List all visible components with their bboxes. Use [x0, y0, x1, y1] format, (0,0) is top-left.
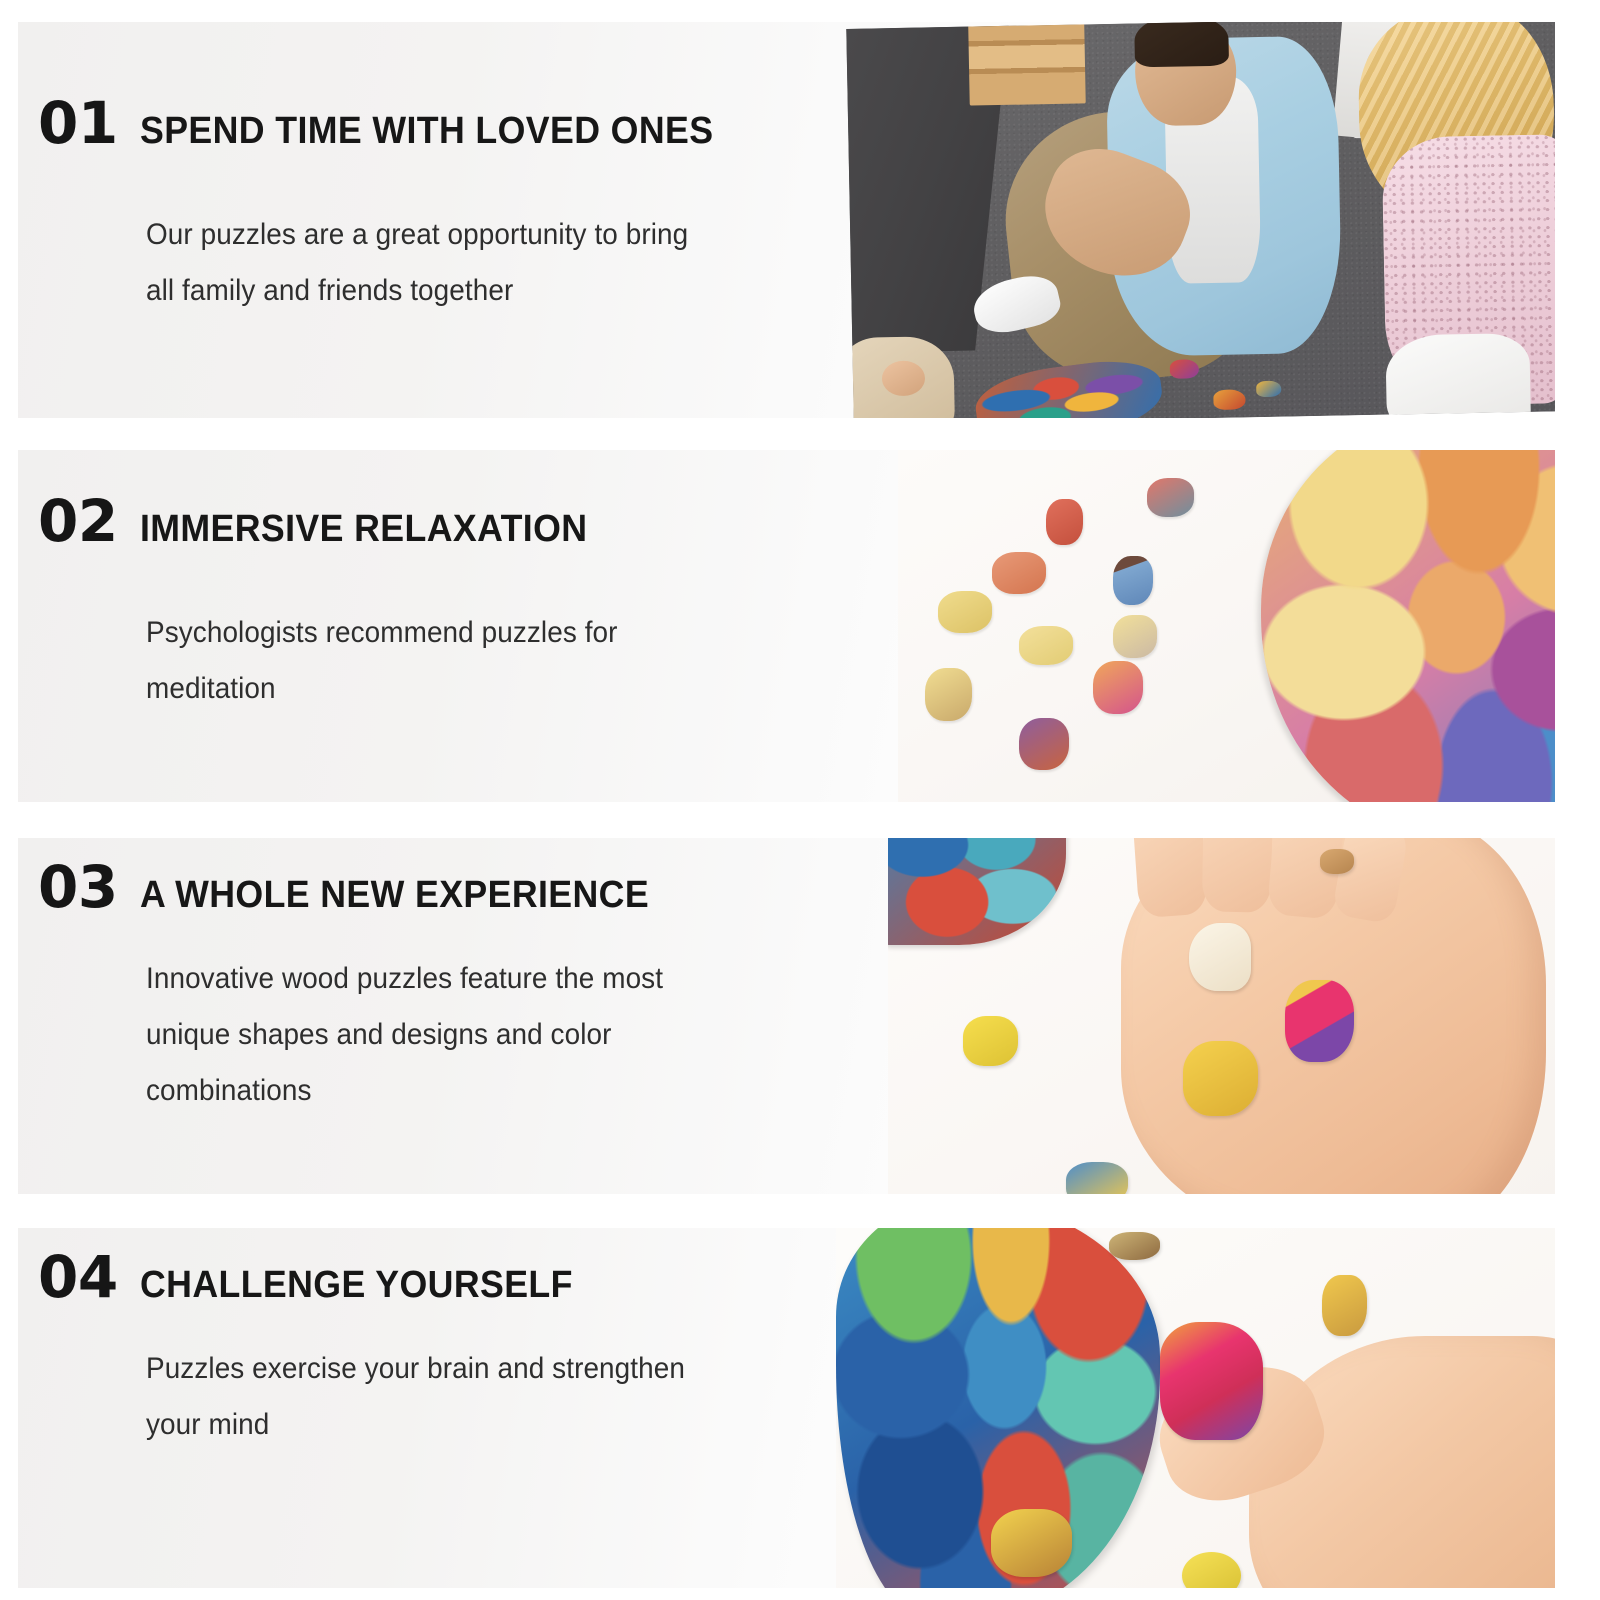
- family-puzzle-photo: [846, 22, 1555, 418]
- feature-body-line: Puzzles exercise your brain and strength…: [146, 1341, 685, 1397]
- feature-body-03: Innovative wood puzzles feature the most…: [146, 951, 663, 1119]
- loose-puzzle-piece: [1213, 390, 1246, 410]
- puzzle-piece-whale-red: [1147, 478, 1194, 517]
- puzzle-piece-small-top: [1109, 1232, 1161, 1261]
- puzzle-piece-leaf-yellow: [1322, 1275, 1366, 1336]
- puzzle-piece-dolphin-white: [1189, 923, 1251, 991]
- puzzle-piece-leaf-yellow: [1019, 626, 1073, 665]
- feature-panel-02: 02 IMMERSIVE RELAXATION Psychologists re…: [18, 450, 1555, 802]
- feature-panel-01: 01 SPEND TIME WITH LOVED ONES Our puzzle…: [18, 22, 1555, 418]
- step-title-04: CHALLENGE YOURSELF: [140, 1266, 573, 1304]
- feature-text-02: 02 IMMERSIVE RELAXATION Psychologists re…: [38, 450, 838, 802]
- puzzle-piece-crown-yellow: [938, 591, 992, 633]
- puzzle-piece-fish-blue: [1066, 1162, 1128, 1194]
- feature-heading-03: 03 A WHOLE NEW EXPERIENCE: [38, 858, 681, 916]
- infographic-page: 01 SPEND TIME WITH LOVED ONES Our puzzle…: [0, 0, 1600, 1600]
- step-title-03: A WHOLE NEW EXPERIENCE: [140, 876, 649, 914]
- step-title-01: SPEND TIME WITH LOVED ONES: [140, 112, 713, 150]
- palm-with-pieces-photo: [888, 838, 1555, 1194]
- feature-body-line: Psychologists recommend puzzles for: [146, 605, 618, 661]
- feature-photo-02: [898, 450, 1555, 802]
- step-number-02: 02: [38, 492, 118, 550]
- puzzle-piece-cat-orange: [992, 552, 1046, 594]
- scattered-pieces-photo: [898, 450, 1555, 802]
- feature-heading-02: 02 IMMERSIVE RELAXATION: [38, 492, 616, 550]
- feature-text-01: 01 SPEND TIME WITH LOVED ONES Our puzzle…: [38, 22, 838, 418]
- feature-body-line: Our puzzles are a great opportunity to b…: [146, 207, 688, 263]
- puzzle-piece-cat-colorful: [1160, 1322, 1263, 1441]
- mans-hair: [1134, 22, 1229, 67]
- wooden-pallet: [968, 22, 1085, 106]
- feature-body-line: all family and friends together: [146, 263, 688, 319]
- feature-body-04: Puzzles exercise your brain and strength…: [146, 1341, 685, 1453]
- feature-photo-04: [836, 1228, 1555, 1588]
- assembled-puzzle: [1261, 450, 1555, 802]
- step-number-01: 01: [38, 94, 118, 152]
- puzzle-piece-animal-yellow: [1183, 1041, 1258, 1116]
- feature-heading-04: 04 CHALLENGE YOURSELF: [38, 1248, 600, 1306]
- puzzle-piece-dinosaur-purple: [1019, 718, 1069, 771]
- feature-heading-01: 01 SPEND TIME WITH LOVED ONES: [38, 94, 750, 152]
- feature-body-line: combinations: [146, 1063, 663, 1119]
- feature-text-04: 04 CHALLENGE YOURSELF Puzzles exercise y…: [38, 1228, 838, 1588]
- feature-body-01: Our puzzles are a great opportunity to b…: [146, 207, 688, 319]
- puzzle-piece-leaf-yellow: [963, 1016, 1018, 1066]
- feature-panel-03: 03 A WHOLE NEW EXPERIENCE Innovative woo…: [18, 838, 1555, 1194]
- puzzle-piece-star-yellow: [1113, 615, 1157, 657]
- womans-white-pants: [1385, 333, 1531, 418]
- feature-body-line: meditation: [146, 661, 618, 717]
- step-number-03: 03: [38, 858, 118, 916]
- feature-body-line: Innovative wood puzzles feature the most: [146, 951, 663, 1007]
- feature-body-line: unique shapes and designs and color: [146, 1007, 663, 1063]
- puzzle-piece-bird-blue: [1113, 556, 1153, 605]
- feature-panel-04: 04 CHALLENGE YOURSELF Puzzles exercise y…: [18, 1228, 1555, 1588]
- puzzle-piece-small-wood: [1320, 849, 1354, 874]
- middle-finger: [1202, 838, 1273, 913]
- step-number-04: 04: [38, 1248, 118, 1306]
- fingers-placing-piece-photo: [836, 1228, 1555, 1588]
- feature-photo-01: [846, 22, 1555, 418]
- puzzle-piece-dolphin-yellow: [991, 1509, 1072, 1577]
- puzzle-piece-deer-yellow: [925, 668, 972, 721]
- puzzle-piece-deer-pink: [1285, 980, 1354, 1062]
- puzzle-piece-bird-red: [1046, 499, 1083, 545]
- feature-body-line: your mind: [146, 1397, 685, 1453]
- assembled-puzzle-edge: [888, 838, 1066, 945]
- puzzle-piece-cat-pink: [1093, 661, 1143, 714]
- loose-puzzle-piece: [1169, 359, 1198, 379]
- feature-photo-03: [888, 838, 1555, 1194]
- loose-puzzle-piece: [1256, 381, 1281, 397]
- puzzle-piece-round-yellow: [1182, 1552, 1241, 1588]
- feature-text-03: 03 A WHOLE NEW EXPERIENCE Innovative woo…: [38, 838, 838, 1194]
- feature-body-02: Psychologists recommend puzzles for medi…: [146, 605, 618, 717]
- step-title-02: IMMERSIVE RELAXATION: [140, 510, 587, 548]
